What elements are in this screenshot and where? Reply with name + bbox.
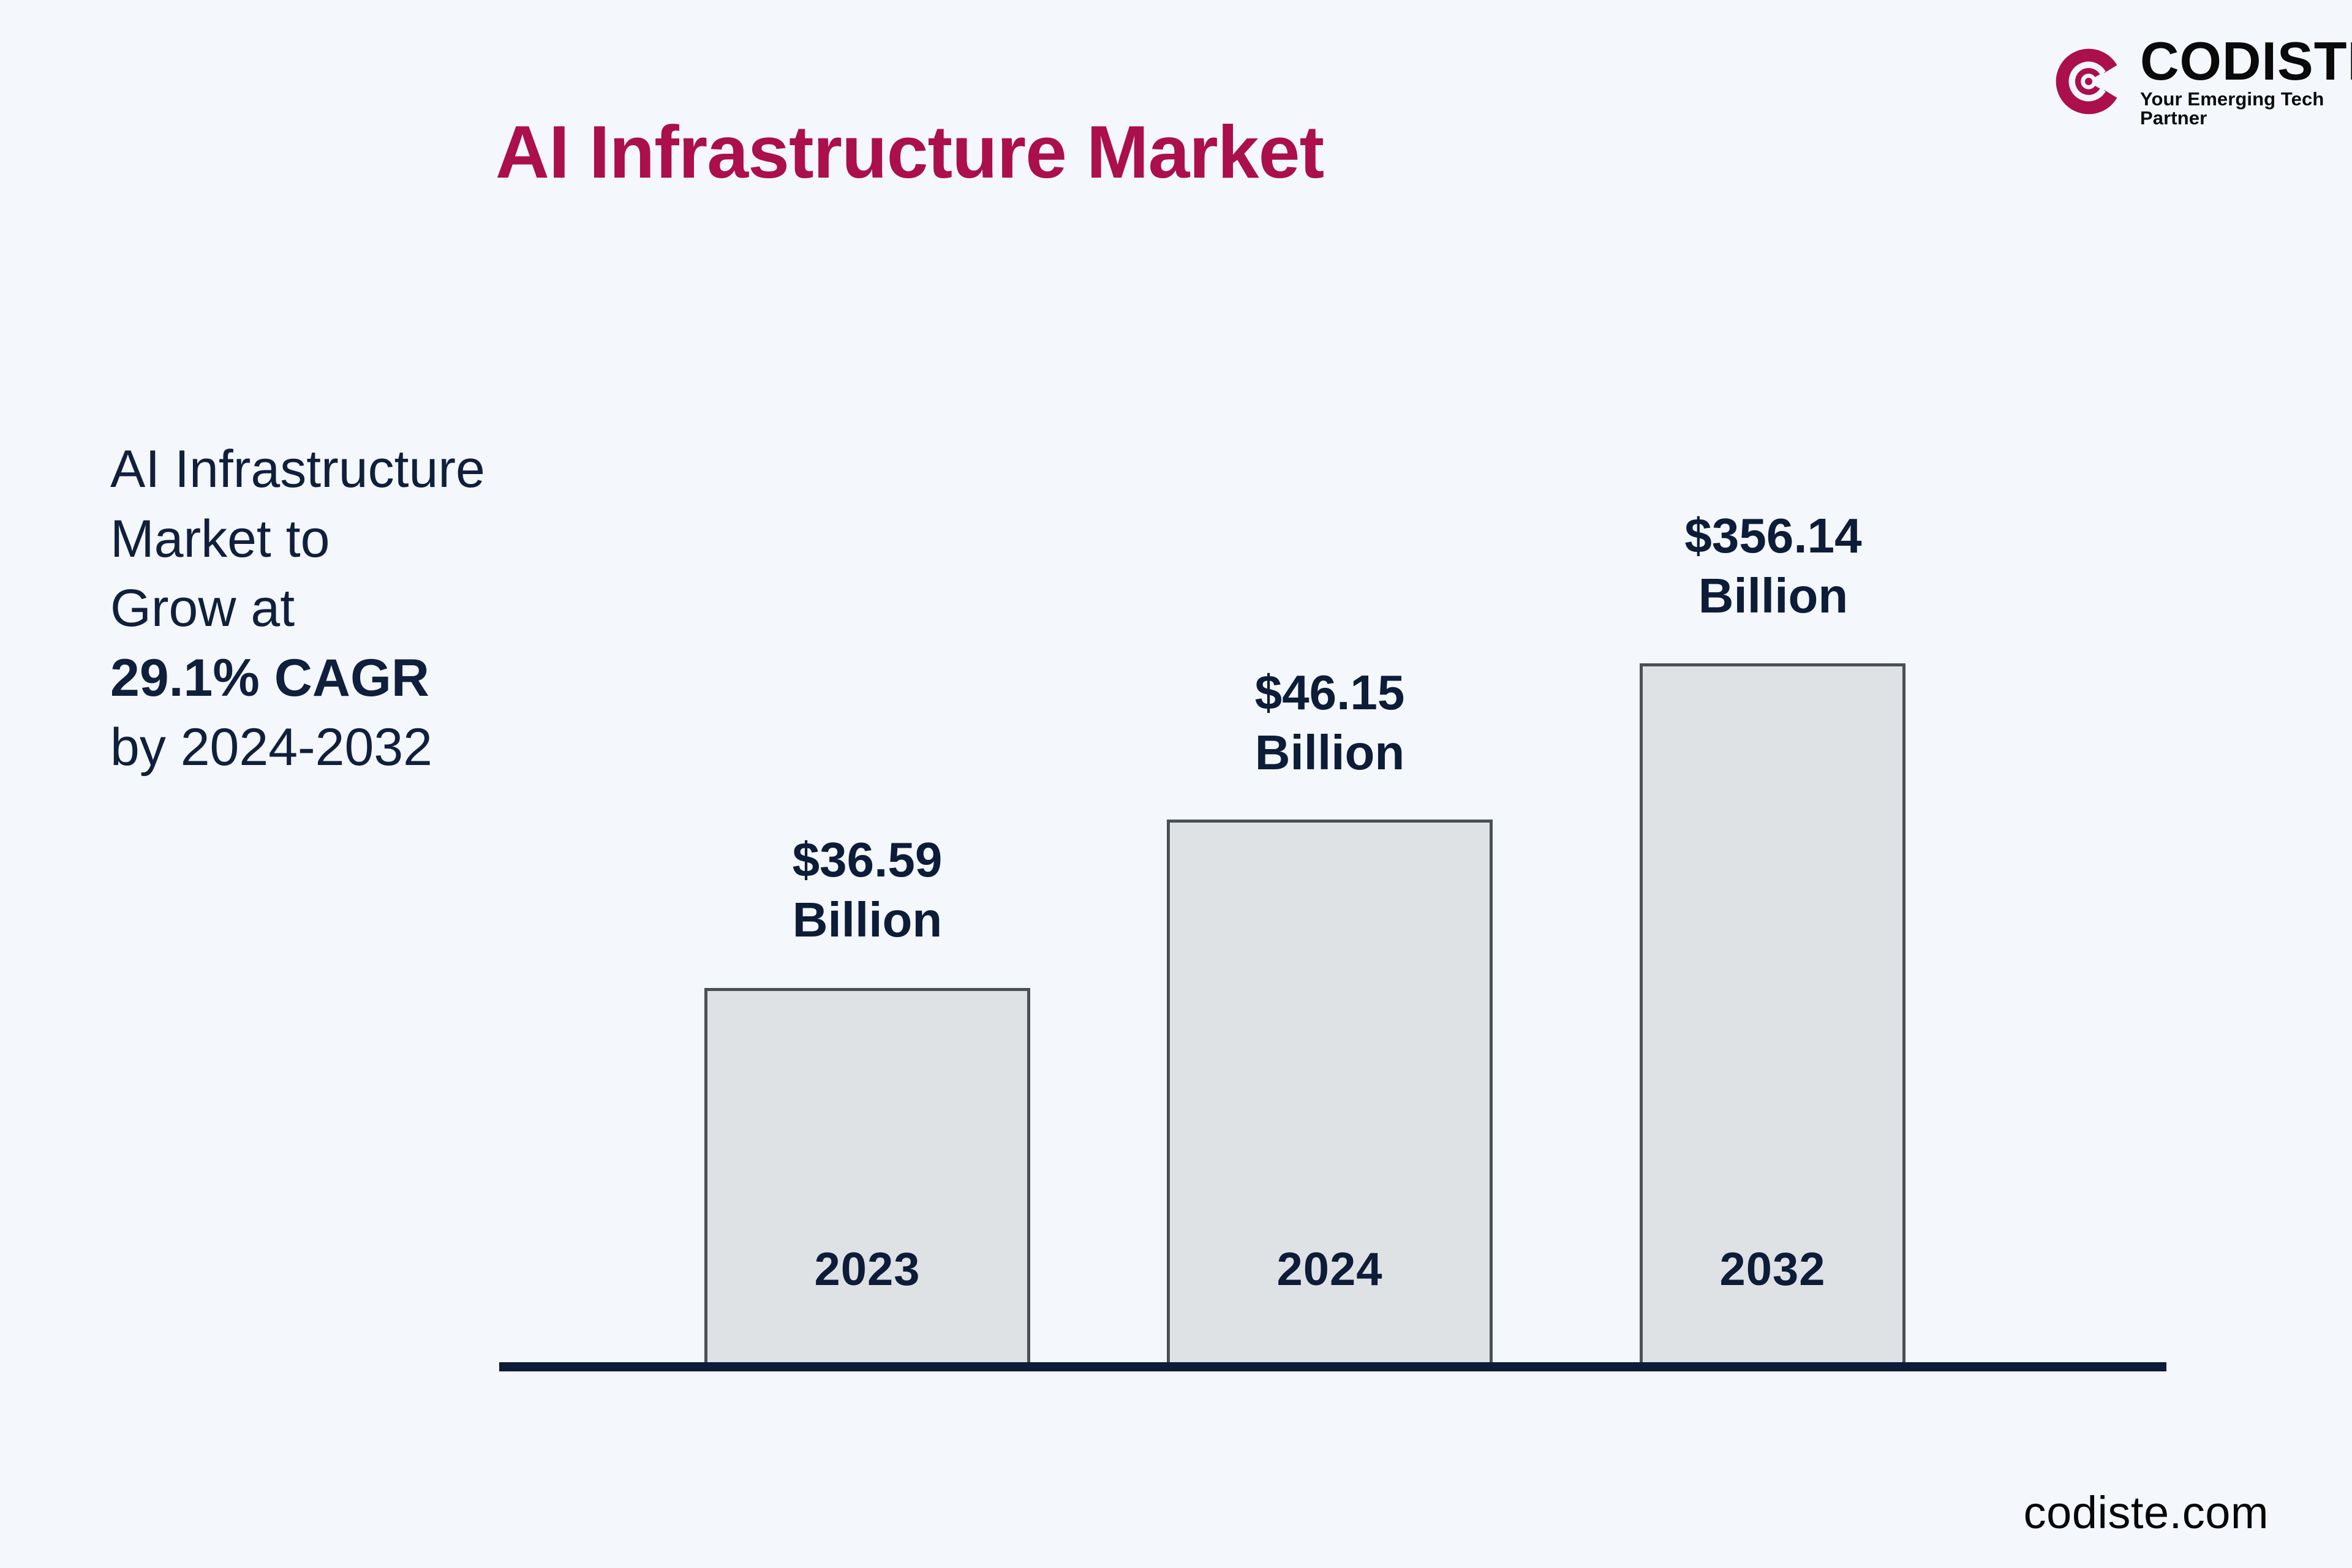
infographic-canvas: CODISTE Your Emerging Tech Partner AI In… [0,0,2352,1568]
bar-value-unit-2024: Billion [1167,723,1493,783]
caption-line-cagr: 29.1% CAGR [110,644,735,714]
bar-value-number-2023: $36.59 [704,830,1030,890]
bar-value-unit-2032: Billion [1629,566,1917,626]
bar-year-label-2032: 2032 [1643,1243,1902,1296]
brand-wordmark: CODISTE [2140,36,2352,87]
bar-chart: $36.59 Billion $46.15 Billion $356.14 Bi… [0,0,2352,1568]
axis-baseline [499,1362,2166,1371]
caption-line-period: by 2024-2032 [110,713,735,783]
caption-line-1: AI Infrastructure [110,435,735,505]
bar-2024: 2024 [1167,820,1493,1363]
bar-value-unit-2023: Billion [704,890,1030,950]
footer-website[interactable]: codiste.com [2024,1487,2269,1539]
bar-value-label-2023: $36.59 Billion [704,830,1030,949]
bar-2023: 2023 [704,988,1030,1363]
bar-year-label-2023: 2023 [707,1243,1027,1296]
brand-wordmark-group: CODISTE Your Emerging Tech Partner [2140,36,2352,127]
bar-value-label-2032: $356.14 Billion [1629,506,1917,625]
caption-line-2: Market to [110,505,735,575]
caption-block: AI Infrastructure Market to Grow at 29.1… [110,435,735,783]
bar-2032: 2032 [1640,663,1905,1363]
bar-value-label-2024: $46.15 Billion [1167,663,1493,782]
caption-line-3: Grow at [110,574,735,644]
codiste-spiral-c-logo-icon [2053,46,2124,117]
page-title: AI Infrastructure Market [0,109,1819,195]
bar-value-number-2032: $356.14 [1629,506,1917,566]
bar-year-label-2024: 2024 [1170,1243,1490,1296]
bar-value-number-2024: $46.15 [1167,663,1493,723]
brand-logo[interactable]: CODISTE Your Emerging Tech Partner [2053,36,2352,127]
brand-tagline: Your Emerging Tech Partner [2140,89,2352,127]
